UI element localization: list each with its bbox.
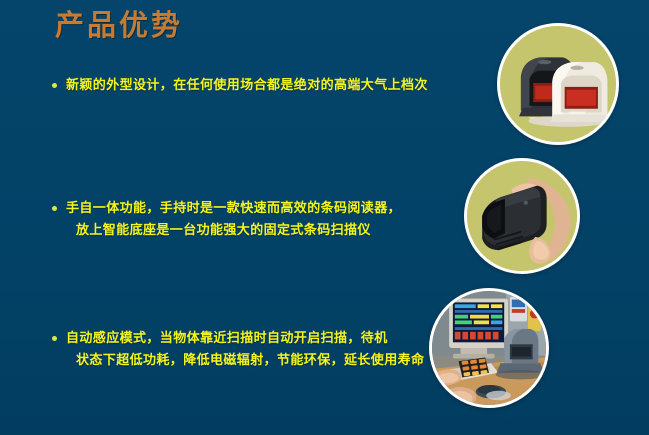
list-item-line-1: 自动感应模式，当物体靠近扫描时自动开启扫描，待机 xyxy=(66,331,388,346)
scanner-pair-illustration xyxy=(500,26,616,142)
list-item: 新颖的外型设计，在任何使用场合都是绝对的高端大气上档次 xyxy=(52,75,452,97)
list-item-text: 自动感应模式，当物体靠近扫描时自动开启扫描，待机 状态下超低功耗，降低电磁辐射，… xyxy=(66,328,452,372)
two-barcode-scanners-photo xyxy=(497,23,619,145)
list-item-line-1: 新颖的外型设计，在任何使用场合都是绝对的高端大气上档次 xyxy=(66,78,428,93)
photo-inner xyxy=(467,161,577,271)
bullet-dot-icon xyxy=(52,206,57,211)
list-item-line-2: 放上智能底座是一台功能强大的固定式条码扫描仪 xyxy=(66,220,452,242)
list-item-line-1: 手自一体功能，手持时是一款快速而高效的条码阅读器， xyxy=(66,201,401,216)
handheld-scanner-illustration xyxy=(467,161,577,271)
photo-inner xyxy=(432,291,546,405)
list-item: 手自一体功能，手持时是一款快速而高效的条码阅读器， 放上智能底座是一台功能强大的… xyxy=(52,198,452,242)
bullet-dot-icon xyxy=(52,336,57,341)
list-item: 自动感应模式，当物体靠近扫描时自动开启扫描，待机 状态下超低功耗，降低电磁辐射，… xyxy=(52,328,452,372)
hand-holding-scanner-photo xyxy=(464,158,580,274)
slide-root: 产品优势 新颖的外型设计，在任何使用场合都是绝对的高端大气上档次 手自一体功能，… xyxy=(0,0,649,435)
pos-checkout-scene-photo xyxy=(429,288,549,408)
pos-scene-illustration xyxy=(432,291,546,405)
list-item-text: 手自一体功能，手持时是一款快速而高效的条码阅读器， 放上智能底座是一台功能强大的… xyxy=(66,198,452,242)
advantages-list: 新颖的外型设计，在任何使用场合都是绝对的高端大气上档次 手自一体功能，手持时是一… xyxy=(0,0,460,435)
list-item-text: 新颖的外型设计，在任何使用场合都是绝对的高端大气上档次 xyxy=(66,75,452,97)
photo-inner xyxy=(500,26,616,142)
bullet-dot-icon xyxy=(52,83,57,88)
list-item-line-2: 状态下超低功耗，降低电磁辐射，节能环保，延长使用寿命 xyxy=(66,350,452,372)
